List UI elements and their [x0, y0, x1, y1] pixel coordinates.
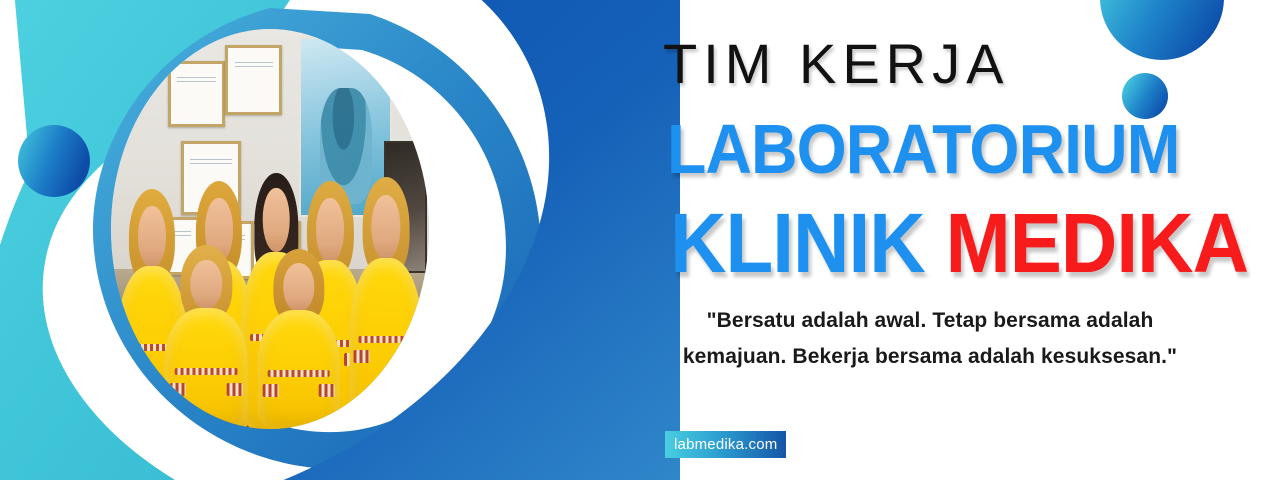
- website-badge[interactable]: labmedika.com: [665, 431, 786, 458]
- cuff: [262, 384, 278, 397]
- person-front-1: [165, 245, 248, 429]
- headline-klinik-medika: KLINIK MEDIKA: [670, 201, 1248, 285]
- gradient-circle-small-top-right: [1122, 73, 1168, 119]
- cuff: [170, 383, 186, 396]
- gradient-dot-left: [18, 125, 90, 197]
- person-back-5: [350, 177, 423, 429]
- gradient-circle-large-top-right: [1100, 0, 1224, 60]
- quote-line-1: "Bersatu adalah awal. Tetap bersama adal…: [707, 309, 1154, 332]
- person-front-2: [257, 249, 340, 429]
- top-right-decor: [1040, 0, 1280, 160]
- left-graphic-panel: [0, 0, 680, 480]
- headline-medika: MEDIKA: [946, 196, 1249, 290]
- team-photo: [111, 29, 429, 429]
- uniform: [350, 258, 423, 429]
- quote-text: "Bersatu adalah awal. Tetap bersama adal…: [670, 303, 1190, 375]
- belt: [175, 368, 238, 375]
- certificate-frame: [168, 61, 225, 127]
- face: [138, 206, 166, 268]
- face: [263, 188, 290, 252]
- uniform: [257, 310, 340, 429]
- banner-root: TIM KERJA LABORATORIUM KLINIK MEDIKA "Be…: [0, 0, 1280, 480]
- face: [283, 263, 314, 312]
- cuff: [318, 384, 334, 397]
- quote-line-2: kemajuan. Bekerja bersama adalah kesukse…: [683, 345, 1177, 368]
- uniform: [165, 308, 248, 429]
- cuff: [354, 350, 370, 363]
- face: [371, 195, 400, 261]
- cuff: [122, 357, 138, 370]
- face: [191, 260, 222, 310]
- belt: [267, 370, 330, 377]
- cuff: [226, 383, 242, 396]
- eyebrow-heading: TIM KERJA: [663, 36, 1009, 92]
- headline-klinik: KLINIK: [670, 196, 925, 290]
- website-badge-label: labmedika.com: [674, 436, 777, 453]
- belt: [358, 336, 414, 343]
- team-photo-scene: [111, 29, 429, 429]
- certificate-frame: [225, 45, 282, 115]
